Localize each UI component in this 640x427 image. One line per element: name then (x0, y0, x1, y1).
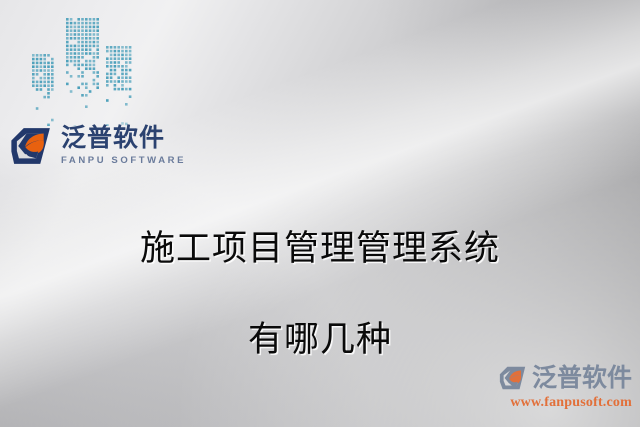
watermark: 泛普软件 www.fanpusoft.com (498, 363, 632, 411)
page-title-line-2: 有哪几种 (20, 317, 620, 363)
slide-canvas: 泛普软件 FANPU SOFTWARE 施工项目管理管理系统 有哪几种 泛普软件… (0, 0, 640, 427)
brand-logo: 泛普软件 FANPU SOFTWARE (10, 124, 186, 168)
watermark-name-cn: 泛普软件 (532, 366, 632, 391)
page-title-line-1: 施工项目管理管理系统 (20, 226, 620, 272)
watermark-url: www.fanpusoft.com (498, 395, 632, 411)
brand-wordmark: 泛普软件 FANPU SOFTWARE (61, 126, 186, 166)
brand-name-cn: 泛普软件 (61, 126, 186, 151)
brand-name-en: FANPU SOFTWARE (61, 156, 186, 166)
pixel-skyline-icon (28, 14, 140, 126)
watermark-row: 泛普软件 (498, 363, 632, 393)
fanpu-hexagon-logo-mark-icon (10, 124, 54, 168)
fanpu-watermark-logo-mark-icon (498, 363, 528, 393)
